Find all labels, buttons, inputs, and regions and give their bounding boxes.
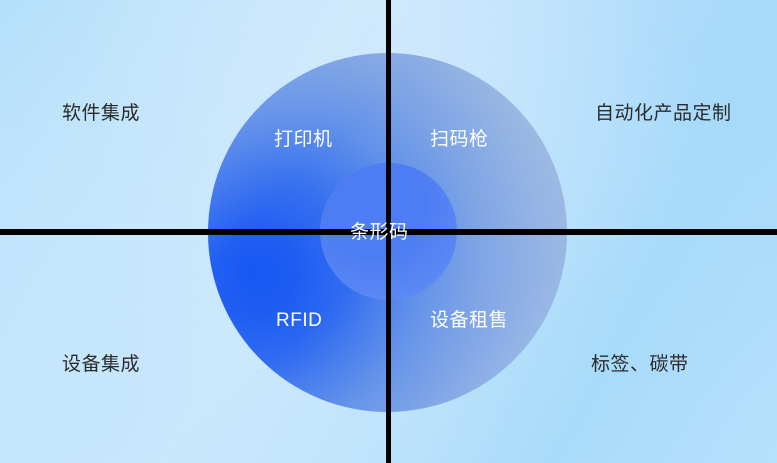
outer-quadrant-label-top-left: 软件集成	[62, 104, 140, 123]
outer-quadrant-label-bottom-right: 标签、碳带	[591, 355, 689, 374]
diagram-canvas: 软件集成 自动化产品定制 设备集成 标签、碳带 打印机 扫码枪 RFID 设备租…	[0, 0, 777, 463]
ring-segment-label-top-left: 打印机	[274, 130, 333, 149]
center-label: 条形码	[350, 223, 409, 242]
ring-segment-label-bottom-left: RFID	[276, 311, 322, 330]
ring-segment-label-top-right: 扫码枪	[430, 130, 489, 149]
outer-quadrant-label-top-right: 自动化产品定制	[595, 104, 732, 123]
ring-segment-label-bottom-right: 设备租售	[430, 311, 508, 330]
outer-quadrant-label-bottom-left: 设备集成	[62, 355, 140, 374]
